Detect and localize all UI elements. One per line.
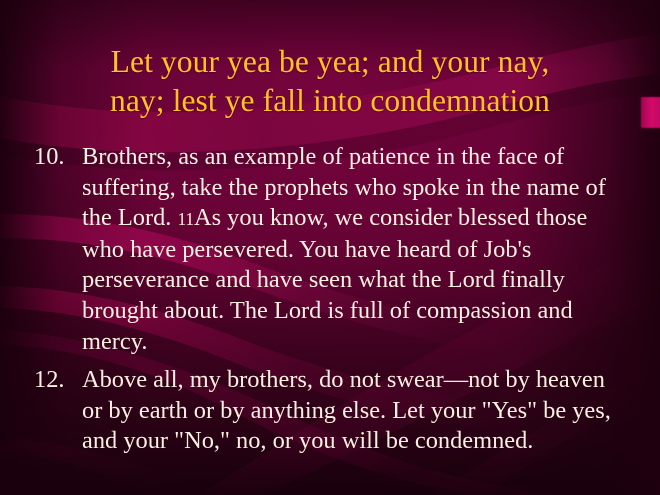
list-item: 10. Brothers, as an example of patience …	[30, 142, 630, 357]
list-item-marker: 10.	[30, 142, 82, 173]
verse-number: 11	[178, 209, 194, 229]
list-item: 12. Above all, my brothers, do not swear…	[30, 365, 630, 458]
slide-title: Let your yea be yea; and your nay, nay; …	[30, 42, 630, 120]
list-item-text: Above all, my brothers, do not swear—not…	[82, 365, 630, 458]
verse-text-before: Above all, my brothers, do not swear—not…	[82, 366, 611, 454]
scripture-list: 10. Brothers, as an example of patience …	[30, 142, 630, 466]
title-line-1: Let your yea be yea; and your nay,	[30, 42, 630, 81]
list-item-text: Brothers, as an example of patience in t…	[82, 142, 630, 357]
list-item-marker: 12.	[30, 365, 82, 396]
title-line-2: nay; lest ye fall into condemnation	[30, 81, 630, 120]
presentation-slide: Let your yea be yea; and your nay, nay; …	[0, 0, 660, 495]
right-edge-accent-block	[641, 97, 660, 128]
